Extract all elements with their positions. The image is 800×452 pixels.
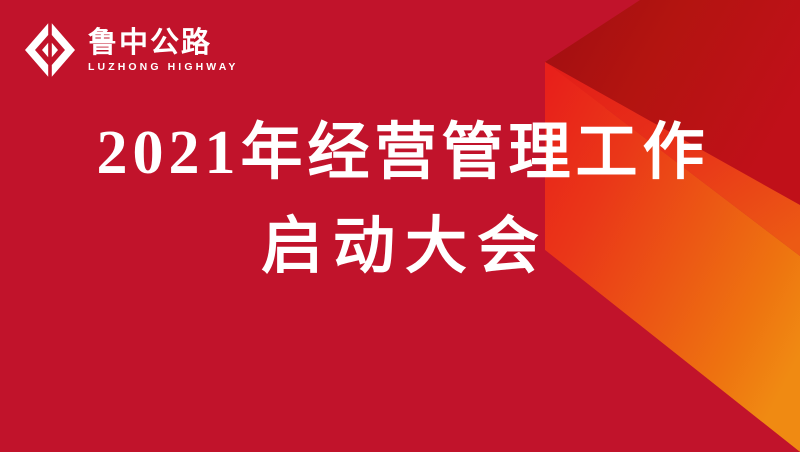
headline-line-1: 2021年经营管理工作 [0,122,800,184]
poster-headline: 2021年经营管理工作 启动大会 [0,122,800,278]
luzhong-highway-diamond-emblem-icon [24,22,76,78]
poster-canvas: 鲁中公路 LUZHONG HIGHWAY 2021年经营管理工作 启动大会 [0,0,800,452]
brand-logo: 鲁中公路 LUZHONG HIGHWAY [24,22,239,78]
brand-text-block: 鲁中公路 LUZHONG HIGHWAY [88,26,239,75]
brand-name-en: LUZHONG HIGHWAY [88,60,239,74]
brand-name-cn: 鲁中公路 [88,28,239,58]
headline-line-2: 启动大会 [0,216,800,278]
